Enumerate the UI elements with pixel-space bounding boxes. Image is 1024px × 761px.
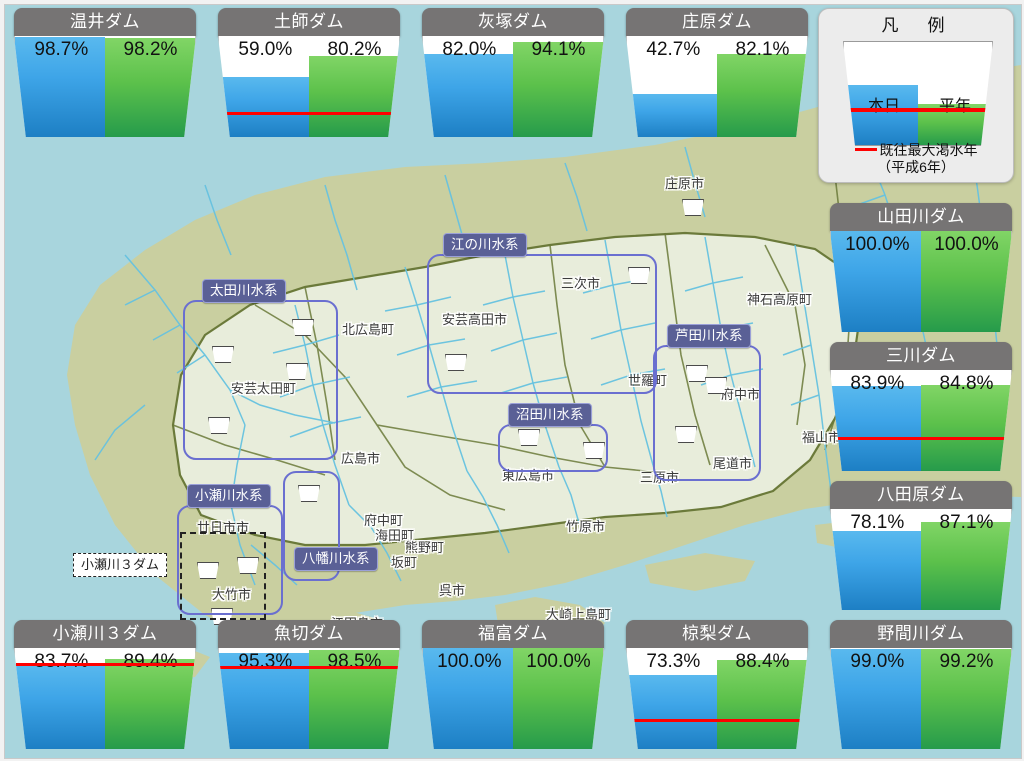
storage-percent-row: 82.0%94.1% (422, 40, 604, 60)
dam-storage-gauge: 42.7%82.1% (626, 36, 808, 137)
storage-percent-row: 59.0%80.2% (218, 40, 400, 60)
dam-storage-gauge: 78.1%87.1% (830, 509, 1012, 610)
storage-percent-row: 100.0%100.0% (422, 652, 604, 672)
river-system-label[interactable]: 小瀬川水系 (187, 484, 271, 508)
today-percent-value: 98.7% (16, 40, 107, 60)
average-percent-value: 84.8% (923, 374, 1010, 394)
today-percent-value: 42.7% (628, 40, 719, 60)
dam-name-header: 三川ダム (830, 342, 1012, 370)
average-storage-fill (921, 522, 1012, 610)
dam-name-header: 山田川ダム (830, 203, 1012, 231)
today-percent-value: 82.0% (424, 40, 515, 60)
today-storage-fill (422, 54, 513, 137)
today-percent-value: 100.0% (424, 652, 515, 672)
storage-percent-row: 42.7%82.1% (626, 40, 808, 60)
river-system-box[interactable] (653, 345, 761, 481)
dam-storage-gauge: 73.3%88.4% (626, 648, 808, 749)
dam-gauge-panel[interactable]: 土師ダム59.0%80.2% (218, 8, 400, 137)
dam-status-map-screen: 庄原市三次市神石高原町北広島町安芸高田市安芸太田町世羅町府中市広島市東広島市三原… (0, 0, 1024, 761)
dam-name-header: 野間川ダム (830, 620, 1012, 648)
average-percent-value: 87.1% (923, 513, 1010, 533)
dam-gauge-panel[interactable]: 温井ダム98.7%98.2% (14, 8, 196, 137)
average-percent-value: 80.2% (311, 40, 398, 60)
today-storage-fill (218, 77, 309, 137)
dam-name-header: 庄原ダム (626, 8, 808, 36)
average-percent-value: 82.1% (719, 40, 806, 60)
storage-percent-row: 98.7%98.2% (14, 40, 196, 60)
dam-name-header: 八田原ダム (830, 481, 1012, 509)
average-percent-value: 100.0% (923, 235, 1010, 255)
average-percent-value: 94.1% (515, 40, 602, 60)
dam-gauge-panel[interactable]: 椋梨ダム73.3%88.4% (626, 620, 808, 749)
legend-title: 凡 例 (819, 16, 1013, 36)
river-system-box[interactable] (498, 424, 608, 472)
today-storage-fill (14, 664, 105, 749)
dam-gauge-panel[interactable]: 庄原ダム42.7%82.1% (626, 8, 808, 137)
drought-year-line (832, 437, 1010, 440)
storage-percent-row: 78.1%87.1% (830, 513, 1012, 533)
dam-gauge-panel[interactable]: 小瀬川３ダム83.7%89.4% (14, 620, 196, 749)
dam-gauge-panel[interactable]: 灰塚ダム82.0%94.1% (422, 8, 604, 137)
legend-drought-line (844, 108, 992, 112)
dam-gauge-panel[interactable]: 山田川ダム100.0%100.0% (830, 203, 1012, 332)
legend-drought-swatch (855, 148, 877, 152)
dam-storage-gauge: 100.0%100.0% (422, 648, 604, 749)
drought-year-line (220, 666, 398, 669)
dam-gauge-panel[interactable]: 三川ダム83.9%84.8% (830, 342, 1012, 471)
today-percent-value: 78.1% (832, 513, 923, 533)
storage-percent-row: 83.7%89.4% (14, 652, 196, 672)
kozegawa-3dams-box[interactable] (180, 532, 266, 620)
today-storage-fill (830, 386, 921, 471)
dam-storage-gauge: 82.0%94.1% (422, 36, 604, 137)
dam-storage-gauge: 99.0%99.2% (830, 648, 1012, 749)
dam-name-header: 灰塚ダム (422, 8, 604, 36)
today-storage-fill (626, 675, 717, 749)
dam-storage-gauge: 95.3%98.5% (218, 648, 400, 749)
drought-year-line (16, 663, 194, 666)
dam-gauge-panel[interactable]: 福富ダム100.0%100.0% (422, 620, 604, 749)
river-system-box[interactable] (427, 254, 657, 394)
legend-drought-year: （平成6年） (877, 159, 955, 175)
average-storage-fill (105, 659, 196, 749)
today-percent-value: 83.9% (832, 374, 923, 394)
drought-year-line (220, 112, 398, 115)
today-percent-value: 99.0% (832, 652, 923, 672)
today-percent-value: 100.0% (832, 235, 923, 255)
average-percent-value: 99.2% (923, 652, 1010, 672)
legend-today-label: 本日 (847, 92, 921, 116)
river-system-label[interactable]: 芦田川水系 (667, 324, 751, 348)
storage-percent-row: 73.3%88.4% (626, 652, 808, 672)
average-percent-value: 98.2% (107, 40, 194, 60)
average-storage-fill (717, 660, 808, 749)
dam-name-header: 温井ダム (14, 8, 196, 36)
average-percent-value: 100.0% (515, 652, 602, 672)
river-system-box[interactable] (183, 300, 338, 460)
dam-marker-icon[interactable] (682, 199, 704, 216)
storage-percent-row: 99.0%99.2% (830, 652, 1012, 672)
dam-gauge-panel[interactable]: 八田原ダム78.1%87.1% (830, 481, 1012, 610)
average-percent-value: 89.4% (107, 652, 194, 672)
today-percent-value: 73.3% (628, 652, 719, 672)
dam-name-header: 土師ダム (218, 8, 400, 36)
today-storage-fill (626, 94, 717, 137)
storage-percent-row: 83.9%84.8% (830, 374, 1012, 394)
dam-storage-gauge: 100.0%100.0% (830, 231, 1012, 332)
river-system-label[interactable]: 太田川水系 (202, 279, 286, 303)
legend-box: 凡 例 本日平年 既往最大渇水年 （平成6年） (818, 8, 1014, 183)
dam-gauge-panel[interactable]: 魚切ダム95.3%98.5% (218, 620, 400, 749)
average-percent-value: 88.4% (719, 652, 806, 672)
average-storage-fill (717, 54, 808, 137)
kozegawa-3dams-label[interactable]: 小瀬川３ダム (73, 553, 167, 577)
dam-storage-gauge: 59.0%80.2% (218, 36, 400, 137)
river-system-label[interactable]: 沼田川水系 (508, 403, 592, 427)
dam-storage-gauge: 83.7%89.4% (14, 648, 196, 749)
dam-name-header: 椋梨ダム (626, 620, 808, 648)
legend-series-labels: 本日平年 (844, 92, 992, 116)
river-system-label[interactable]: 八幡川水系 (294, 547, 378, 571)
drought-year-line (628, 719, 806, 722)
legend-average-label: 平年 (921, 92, 989, 116)
legend-gauge: 本日平年 (843, 41, 993, 146)
legend-drought-label: 既往最大渇水年 (880, 142, 978, 158)
river-system-label[interactable]: 江の川水系 (443, 233, 527, 257)
today-percent-value: 59.0% (220, 40, 311, 60)
dam-storage-gauge: 83.9%84.8% (830, 370, 1012, 471)
average-storage-fill (921, 385, 1012, 471)
dam-name-header: 小瀬川３ダム (14, 620, 196, 648)
dam-name-header: 福富ダム (422, 620, 604, 648)
today-percent-value: 83.7% (16, 652, 107, 672)
today-storage-fill (830, 531, 921, 610)
legend-footnote: 既往最大渇水年 （平成6年） (819, 142, 1013, 176)
dam-name-header: 魚切ダム (218, 620, 400, 648)
average-storage-fill (309, 56, 400, 137)
storage-percent-row: 100.0%100.0% (830, 235, 1012, 255)
dam-storage-gauge: 98.7%98.2% (14, 36, 196, 137)
dam-gauge-panel[interactable]: 野間川ダム99.0%99.2% (830, 620, 1012, 749)
